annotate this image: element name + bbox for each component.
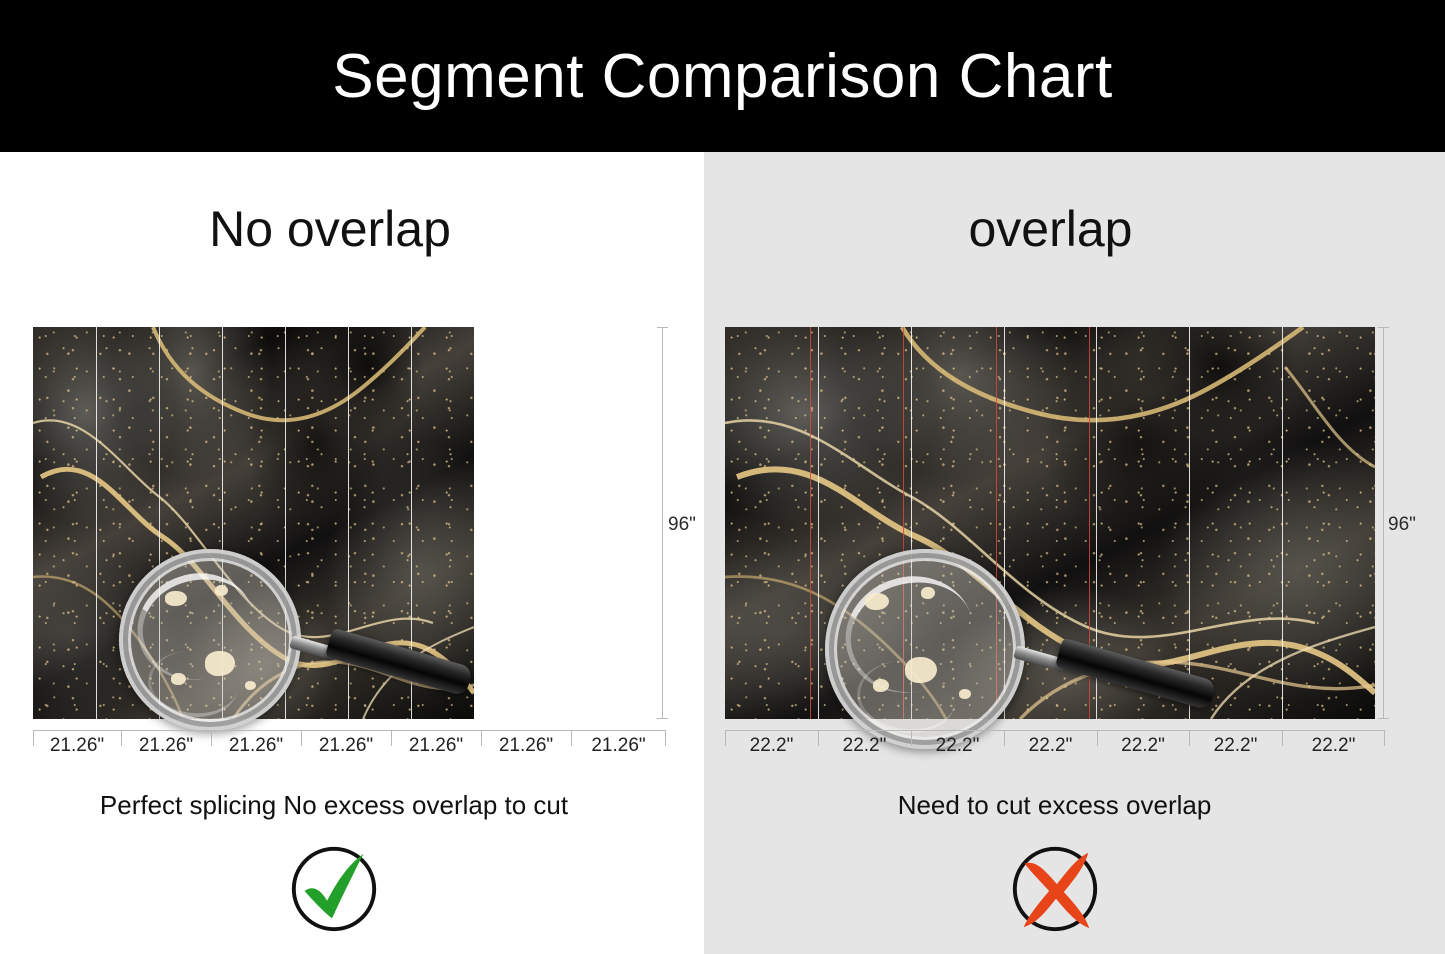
segment-width-label: 21.26" (211, 735, 301, 757)
segment-comparison-chart-page: Segment Comparison Chart No overlap (0, 0, 1445, 954)
segment-width-label: 22.2" (818, 735, 911, 757)
overlap-marker (996, 327, 997, 719)
segment-divider (159, 327, 160, 719)
segment-divider (96, 327, 97, 719)
height-dimension-label-left: 96" (668, 514, 696, 536)
overlap-marker (903, 327, 904, 719)
segment-divider (1096, 327, 1097, 719)
segment-width-label: 21.26" (571, 735, 666, 757)
segment-width-labels-left: 21.26" 21.26" 21.26" 21.26" 21.26" 21.26… (33, 735, 666, 757)
comparison-panels: No overlap (0, 152, 1445, 954)
segment-divider (1282, 327, 1283, 719)
segment-width-label: 21.26" (391, 735, 481, 757)
segment-width-label: 22.2" (1282, 735, 1385, 757)
segment-divider (1004, 327, 1005, 719)
panel-overlap: overlap (704, 152, 1445, 954)
panel-no-overlap: No overlap (0, 152, 704, 954)
marble-preview-right (725, 327, 1375, 719)
overlap-marker (1089, 327, 1090, 719)
segment-divider (1189, 327, 1190, 719)
gold-speckle-left (33, 327, 474, 719)
height-dimension-line-left (662, 327, 663, 719)
height-dimension-label-right: 96" (1388, 514, 1416, 536)
segment-width-label: 22.2" (1004, 735, 1097, 757)
segment-width-label: 22.2" (1189, 735, 1282, 757)
segment-width-label: 21.26" (481, 735, 571, 757)
segment-divider (818, 327, 819, 719)
overlap-marker (810, 327, 811, 719)
marble-preview-left (33, 327, 474, 719)
panel-heading-left: No overlap (0, 200, 704, 258)
page-title: Segment Comparison Chart (332, 41, 1112, 112)
caption-right: Need to cut excess overlap (704, 790, 1445, 821)
segment-width-label: 22.2" (725, 735, 818, 757)
segment-divider (411, 327, 412, 719)
segment-width-label: 21.26" (121, 735, 211, 757)
red-cross-icon (1006, 840, 1104, 938)
segment-width-label: 21.26" (301, 735, 391, 757)
caption-left: Perfect splicing No excess overlap to cu… (0, 790, 704, 821)
green-check-icon (285, 840, 383, 938)
segment-divider (348, 327, 349, 719)
segment-width-label: 21.26" (33, 735, 121, 757)
segment-width-label: 22.2" (911, 735, 1004, 757)
height-dimension-line-right (1383, 327, 1384, 719)
verdict-right (704, 840, 1445, 938)
panel-heading-right: overlap (704, 200, 1445, 258)
verdict-left (0, 840, 704, 938)
gold-speckle-right (725, 327, 1375, 719)
segment-divider (911, 327, 912, 719)
header-bar: Segment Comparison Chart (0, 0, 1445, 152)
segment-divider (285, 327, 286, 719)
segment-width-labels-right: 22.2" 22.2" 22.2" 22.2" 22.2" 22.2" 22.2… (725, 735, 1385, 757)
segment-width-label: 22.2" (1097, 735, 1189, 757)
segment-divider (222, 327, 223, 719)
